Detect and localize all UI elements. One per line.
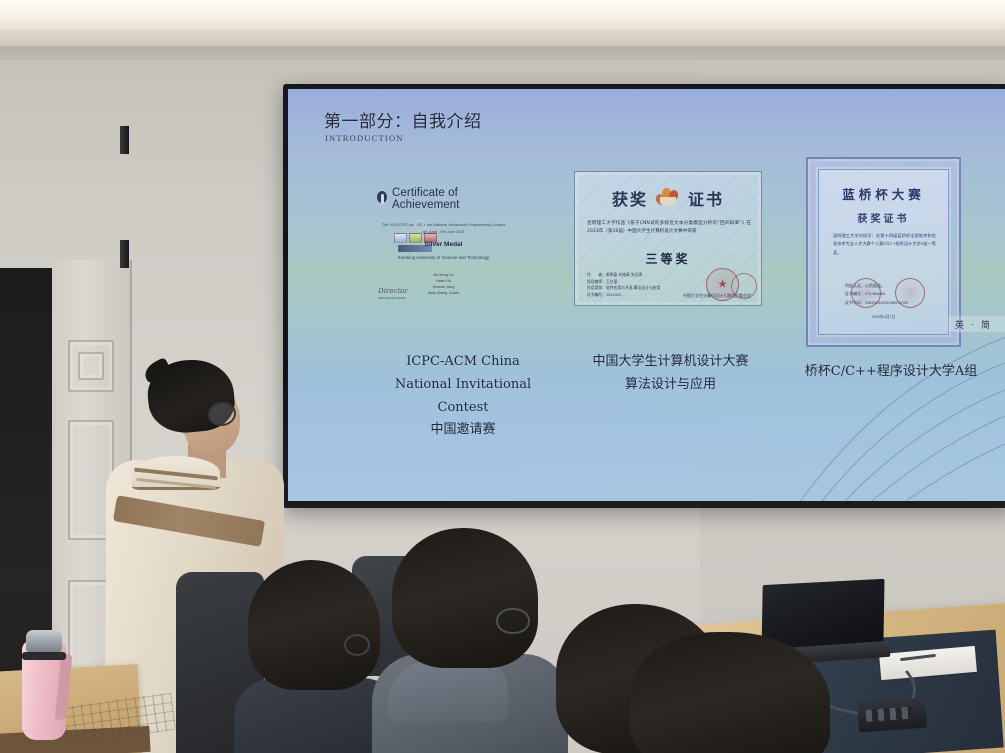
presentation-slide: 第一部分：自我介绍 INTRODUCTION: [288, 89, 1005, 501]
icpc-signature-subtitle: ICPC Executive Director: [378, 297, 406, 300]
ime-floating-toolbar[interactable]: 英 · 简: [948, 315, 1005, 333]
table-port-hub[interactable]: [857, 698, 927, 733]
door-hinge-upper: [120, 126, 129, 154]
wall-display-bezel: 第一部分：自我介绍 INTRODUCTION: [283, 84, 1005, 508]
audience-member-1: [248, 560, 380, 753]
caption-cdc-line-1: 中国大学生计算机设计大赛: [578, 351, 763, 374]
lanqiao-body-text: 昆明理工大学刘同学：在第十四届蓝桥杯全国软件和信息技术专业人才大赛个人赛C/C+…: [833, 232, 936, 257]
lanqiao-date: 2023年4月7日: [819, 315, 948, 320]
caption-icpc-line-2: National Invitational Contest: [368, 374, 558, 420]
audience-member-4-head: [630, 632, 830, 753]
audience-member-2-head: [392, 528, 538, 668]
cqsj-body-text: 昆明理工大学作品《基于CNN试的多标签文本分类模型分析的“回声知潭”》在2023…: [587, 220, 751, 236]
cqsj-heading-right: 证书: [688, 186, 724, 210]
caption-icpc: ICPC-ACM China National Invitational Con…: [368, 351, 558, 442]
icpc-event-line: The 2024 ICPC Asia-EC Final National Inv…: [370, 223, 517, 227]
seal-star-icon: ★: [718, 279, 728, 290]
audience-member-4: [630, 632, 830, 753]
ime-dot-icon: ·: [971, 319, 974, 329]
lanqiao-heading-2: 获奖证书: [819, 210, 948, 225]
cqsj-field-author: 作 者：郭明泰 刘修真 张远肃: [587, 272, 660, 279]
certificate-icpc: Certificate of Achievement The 2024 ICPC…: [370, 181, 517, 301]
door-hinge-lower: [120, 240, 129, 268]
caption-computer-design: 中国大学生计算机设计大赛 算法设计与应用: [578, 351, 763, 397]
icpc-award: Silver Medal: [370, 241, 517, 248]
ceiling-molding: [0, 30, 1005, 46]
caption-cdc-line-2: 算法设计与应用: [578, 374, 763, 397]
audience-member-1-head: [248, 560, 380, 690]
caption-icpc-line-1: ICPC-ACM China: [368, 351, 558, 374]
cqsj-heading-left: 获奖: [612, 186, 648, 210]
lanqiao-seal-2: [895, 278, 925, 308]
icpc-event-date: 9th June - 9th June 2024: [370, 230, 517, 234]
icpc-organization: Kunming University of Science and Techno…: [370, 255, 517, 260]
cqsj-fields: 作 者：郭明泰 刘修真 张远肃 指导教师：王红丽 作品类别：软件应用与开发-算法…: [587, 272, 660, 299]
slide-subtitle: INTRODUCTION: [325, 133, 404, 143]
wall-display-screen[interactable]: 第一部分：自我介绍 INTRODUCTION: [288, 89, 1005, 501]
cqsj-prize: 三等奖: [575, 250, 761, 267]
lanqiao-seal-1: [851, 278, 881, 308]
ceiling-light-strip: [0, 0, 1005, 30]
icpc-signature: Director: [377, 287, 408, 295]
icpc-header: Certificate of Achievement: [376, 187, 517, 211]
certificate-lanqiao-cup: 蓝桥杯大赛 获奖证书 昆明理工大学刘同学：在第十四届蓝桥杯全国软件和信息技术专业…: [806, 157, 961, 347]
caption-lanqiao-line-1: 桥杯C/C++程序设计大学A组: [766, 361, 1005, 384]
audience-member-2: [392, 528, 538, 753]
thermos-cap[interactable]: [26, 630, 62, 652]
cqsj-field-advisor: 指导教师：王红丽: [587, 279, 660, 286]
flower-emblem-icon: [656, 188, 680, 208]
audience-member-2-glasses: [496, 608, 530, 634]
audience-member-2-hood: [388, 660, 508, 722]
ime-language-indicator[interactable]: 英: [955, 318, 964, 331]
lanqiao-inner-frame: 蓝桥杯大赛 获奖证书 昆明理工大学刘同学：在第十四届蓝桥杯全国软件和信息技术专业…: [818, 169, 949, 335]
cqsj-field-category: 作品类别：软件应用与开发-算法设计与应用: [587, 285, 660, 292]
cqsj-heading-row: 获奖 证书: [575, 186, 761, 210]
slide-title: 第一部分：自我介绍: [324, 107, 482, 132]
icpc-medal-ring-icon: [414, 219, 427, 232]
icpc-logo-icon: [376, 191, 387, 207]
lanqiao-heading-1: 蓝桥杯大赛: [819, 184, 948, 203]
official-seal-2: [731, 273, 757, 299]
icpc-certificate-heading: Certificate of Achievement: [392, 187, 517, 211]
certificate-computer-design-contest: 获奖 证书 昆明理工大学作品《基于CNN试的多标签文本分类模型分析的“回声知潭”…: [574, 171, 762, 306]
cqsj-field-serial: 证书编号：JSJ2023...: [587, 292, 660, 299]
ime-mode-indicator[interactable]: 简: [981, 318, 990, 331]
presentation-room-photo: 第一部分：自我介绍 INTRODUCTION: [0, 0, 1005, 753]
caption-lanqiao: 桥杯C/C++程序设计大学A组: [766, 361, 1005, 384]
audience-member-1-glasses: [344, 634, 370, 656]
thermos-collar: [22, 652, 66, 660]
caption-icpc-line-3: 中国邀请赛: [368, 419, 558, 442]
